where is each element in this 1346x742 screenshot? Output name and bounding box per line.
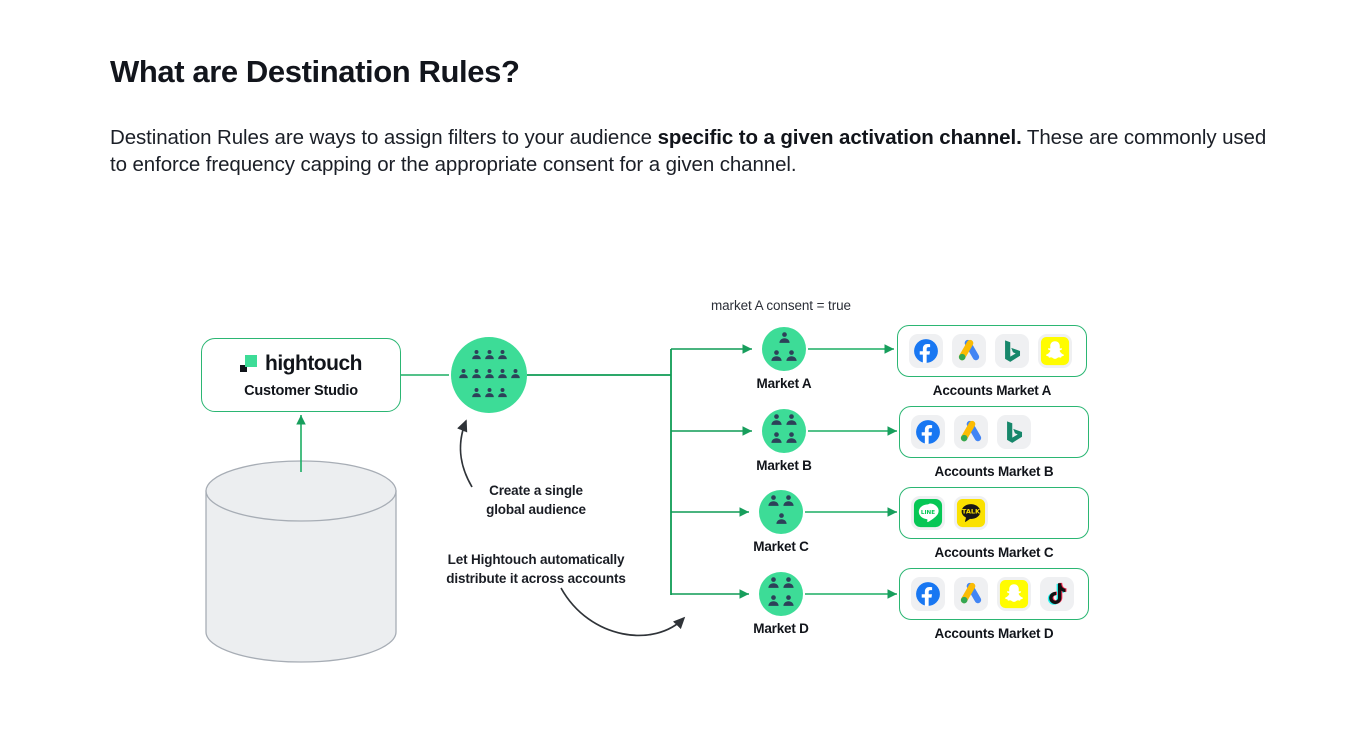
destination-box[interactable] (899, 568, 1089, 620)
person-icon (497, 347, 508, 365)
people-row (778, 331, 791, 349)
arrow-create-audience (460, 421, 472, 487)
people-row (471, 347, 508, 365)
people-row (770, 349, 798, 367)
svg-text:TALK: TALK (962, 507, 981, 515)
person-icon (770, 431, 783, 449)
person-icon (782, 576, 795, 594)
person-icon (458, 366, 469, 384)
people-row (767, 594, 795, 612)
market-label: Market C (753, 539, 808, 554)
person-icon (778, 331, 791, 349)
person-icon (785, 413, 798, 431)
person-icon (767, 494, 780, 512)
person-icon (497, 366, 508, 384)
hightouch-logo-text: hightouch (265, 352, 362, 376)
person-icon (471, 366, 482, 384)
facebook-icon[interactable] (909, 334, 943, 368)
note-distribute-line-2: distribute it across accounts (443, 569, 629, 588)
note-create-audience: Create a single global audience (483, 481, 589, 519)
person-icon (497, 385, 508, 403)
destination-group-market-c[interactable]: LINETALKAccounts Market C (899, 487, 1089, 560)
kakaotalk-icon[interactable]: TALK (954, 496, 988, 530)
database-cylinder (206, 461, 396, 662)
note-distribute: Let Hightouch automatically distribute i… (443, 550, 629, 588)
person-icon (510, 366, 521, 384)
hightouch-customer-studio-card[interactable]: hightouch Customer Studio (201, 338, 401, 412)
people-row (458, 366, 521, 384)
person-icon (785, 431, 798, 449)
people-row (775, 512, 788, 530)
hightouch-logo-icon (240, 355, 257, 372)
person-icon (484, 366, 495, 384)
slide-root: What are Destination Rules? Destination … (0, 0, 1346, 742)
google-ads-icon[interactable] (954, 415, 988, 449)
note-create-line-2: global audience (483, 500, 589, 519)
person-icon (785, 349, 798, 367)
note-create-line-1: Create a single (483, 481, 589, 500)
snapchat-icon[interactable] (1038, 334, 1072, 368)
destination-box[interactable] (899, 406, 1089, 458)
bing-icon[interactable] (997, 415, 1031, 449)
destination-group-label: Accounts Market A (897, 383, 1087, 398)
person-icon (471, 347, 482, 365)
global-audience-circle[interactable] (451, 337, 527, 413)
svg-text:LINE: LINE (921, 510, 935, 516)
person-icon (782, 494, 795, 512)
market-node-market-d[interactable]: Market D (759, 572, 836, 636)
person-icon (782, 594, 795, 612)
tiktok-icon[interactable] (1040, 577, 1074, 611)
destination-group-market-b[interactable]: Accounts Market B (899, 406, 1089, 479)
person-icon (775, 512, 788, 530)
people-row (770, 431, 798, 449)
destination-box[interactable] (897, 325, 1087, 377)
market-circle[interactable] (762, 409, 806, 453)
market-node-market-b[interactable]: Market B (762, 409, 839, 473)
destination-box[interactable]: LINETALK (899, 487, 1089, 539)
hightouch-logo: hightouch (240, 352, 362, 376)
person-icon (484, 347, 495, 365)
destination-group-market-d[interactable]: Accounts Market D (899, 568, 1089, 641)
consent-rule-label: market A consent = true (711, 298, 851, 313)
market-circle[interactable] (759, 572, 803, 616)
destination-group-label: Accounts Market D (899, 626, 1089, 641)
facebook-icon[interactable] (911, 415, 945, 449)
hightouch-card-subtitle: Customer Studio (244, 383, 358, 399)
destination-group-market-a[interactable]: Accounts Market A (897, 325, 1087, 398)
destination-group-label: Accounts Market B (899, 464, 1089, 479)
market-label: Market B (756, 458, 811, 473)
person-icon (770, 349, 783, 367)
bing-icon[interactable] (995, 334, 1029, 368)
person-icon (484, 385, 495, 403)
market-label: Market A (757, 376, 812, 391)
google-ads-icon[interactable] (954, 577, 988, 611)
market-label: Market D (753, 621, 808, 636)
person-icon (770, 413, 783, 431)
market-circle[interactable] (759, 490, 803, 534)
person-icon (767, 576, 780, 594)
market-circle[interactable] (762, 327, 806, 371)
person-icon (767, 594, 780, 612)
line-icon[interactable]: LINE (911, 496, 945, 530)
people-row (770, 413, 798, 431)
person-icon (471, 385, 482, 403)
google-ads-icon[interactable] (952, 334, 986, 368)
snapchat-icon[interactable] (997, 577, 1031, 611)
arrow-distribute (561, 588, 684, 635)
people-row (767, 576, 795, 594)
note-distribute-line-1: Let Hightouch automatically (443, 550, 629, 569)
people-row (471, 385, 508, 403)
market-node-market-a[interactable]: Market A (762, 327, 839, 391)
market-node-market-c[interactable]: Market C (759, 490, 836, 554)
facebook-icon[interactable] (911, 577, 945, 611)
people-row (767, 494, 795, 512)
destination-group-label: Accounts Market C (899, 545, 1089, 560)
